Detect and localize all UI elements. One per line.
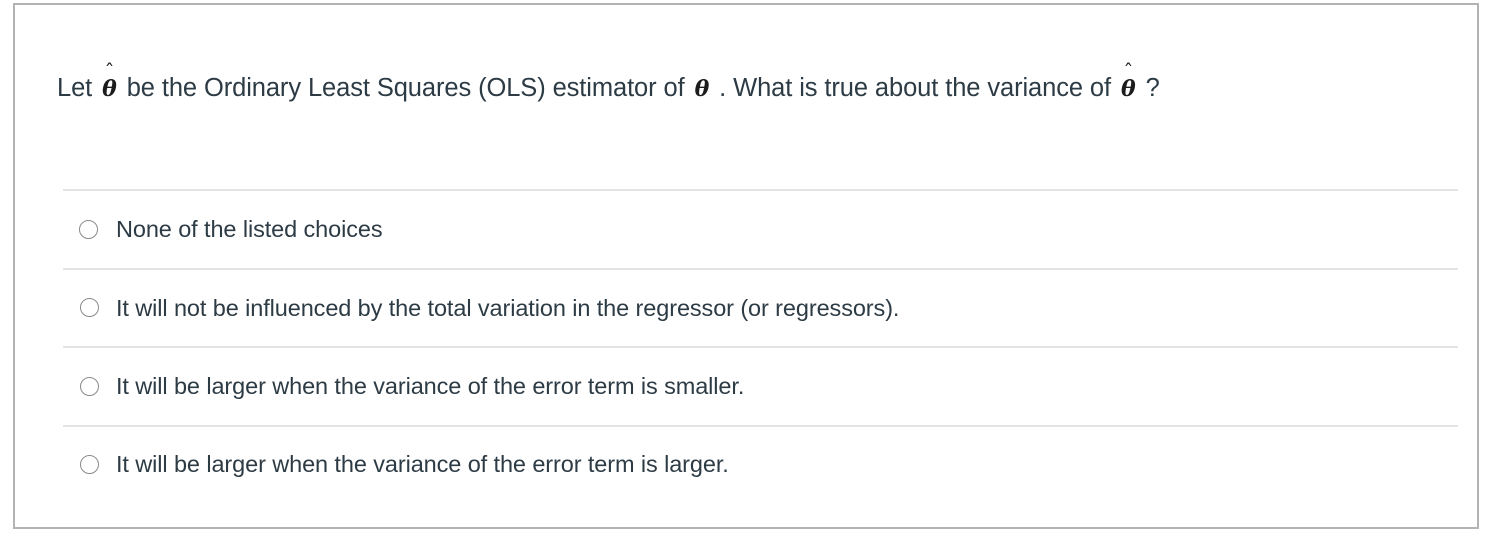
theta-symbol: θ [692,76,713,104]
question-card: Let θ be the Ordinary Least Squares (OLS… [13,3,1479,529]
radio-button-icon-1[interactable] [79,220,98,239]
radio-button-icon-4[interactable] [80,455,99,474]
answer-option-4[interactable]: It will be larger when the variance of t… [63,425,1458,503]
radio-button-icon-3[interactable] [80,377,99,396]
question-segment-text-1: Let [57,74,99,102]
answer-option-label-2: It will not be influenced by the total v… [116,294,899,322]
answer-option-label-4: It will be larger when the variance of t… [116,450,729,478]
question-segment-text-2: be the Ordinary Least Squares (OLS) esti… [120,74,692,102]
question-stem: Let θ be the Ordinary Least Squares (OLS… [57,73,1447,105]
answer-option-label-1: None of the listed choices [116,215,383,243]
answer-option-label-3: It will be larger when the variance of t… [116,372,744,400]
answer-option-1[interactable]: None of the listed choices [63,189,1458,268]
answer-option-2[interactable]: It will not be influenced by the total v… [63,268,1458,347]
theta-hat-symbol-1: θ [99,76,120,104]
theta-hat-symbol-2: θ [1118,76,1139,104]
question-segment-text-4: ? [1139,74,1160,102]
answer-options-list: None of the listed choices It will not b… [63,189,1458,503]
question-segment-text-3: . What is true about the variance of [712,74,1118,102]
radio-button-icon-2[interactable] [80,298,99,317]
answer-option-3[interactable]: It will be larger when the variance of t… [63,346,1458,425]
